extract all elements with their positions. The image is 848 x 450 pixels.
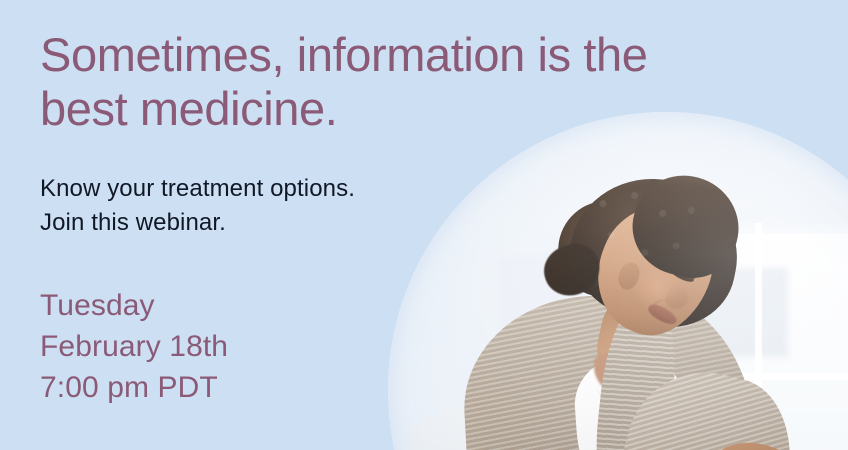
headline: Sometimes, information is the best medic… bbox=[40, 28, 740, 136]
text-column: Sometimes, information is the best medic… bbox=[40, 0, 460, 450]
event-datetime: Tuesday February 18th 7:00 pm PDT bbox=[40, 285, 340, 408]
webinar-promo-banner: Sometimes, information is the best medic… bbox=[0, 0, 848, 450]
subheadline: Know your treatment options. Join this w… bbox=[40, 172, 470, 240]
